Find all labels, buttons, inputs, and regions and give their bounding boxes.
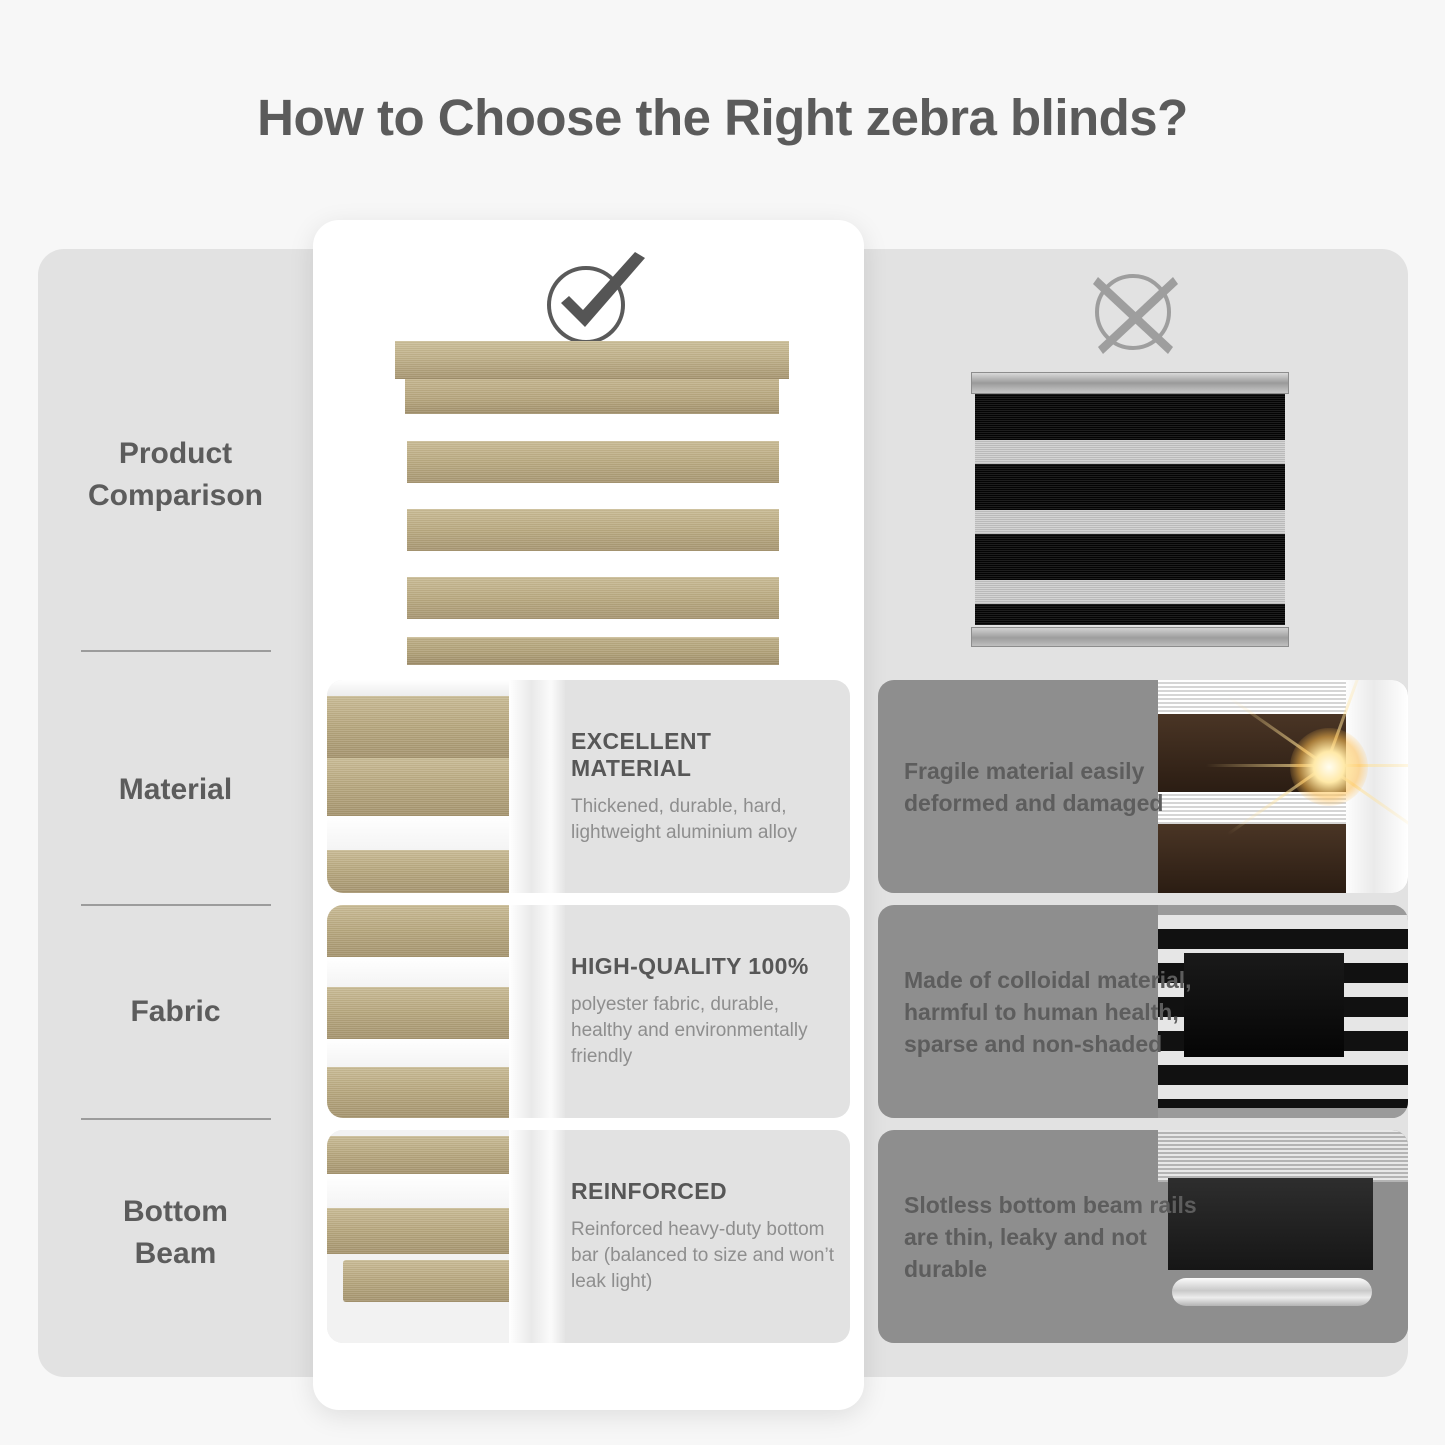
blind-vane <box>327 850 515 893</box>
blind-bottom-rail <box>971 627 1289 647</box>
page-title: How to Choose the Right zebra blinds? <box>0 88 1445 147</box>
blind-vane <box>407 509 779 551</box>
blind-headrail-lip <box>405 379 779 414</box>
bad-feature-text: Slotless bottom beam rails are thin, lea… <box>904 1130 1204 1343</box>
feature-heading: HIGH-QUALITY 100% <box>571 953 836 980</box>
blind-vane <box>1184 953 1344 1057</box>
blind-vane <box>407 577 779 619</box>
tan-blind-bottom-bar-photo <box>327 1130 565 1343</box>
blind-bottom-bar <box>407 637 779 665</box>
row-label-fabric: Fabric <box>38 991 313 1033</box>
row-label-line-2: Comparison <box>38 475 313 517</box>
wood-grain-texture <box>327 758 515 816</box>
tan-blind-window-frame-photo <box>327 680 565 893</box>
cross-circle-icon <box>1078 262 1188 362</box>
feature-text-block: EXCELLENT MATERIAL Thickened, durable, h… <box>571 680 836 893</box>
blind-sheer-gap <box>327 957 515 987</box>
blind-headrail <box>327 696 515 758</box>
blind-vane <box>327 987 515 1039</box>
blind-sheer-gap <box>327 816 515 850</box>
blind-bottom-bar <box>343 1260 533 1302</box>
window-frame-side <box>509 905 565 1118</box>
blind-headrail <box>395 341 789 379</box>
blind-vane <box>327 905 515 957</box>
black-zebra-blind-product-photo <box>965 368 1295 653</box>
bad-feature-text: Fragile material easily deformed and dam… <box>904 680 1204 893</box>
product-photo <box>327 1130 565 1343</box>
bad-feature-material: Fragile material easily deformed and dam… <box>878 680 1408 893</box>
wood-grain-texture <box>395 341 789 378</box>
wood-grain-texture <box>327 905 515 957</box>
blind-vane <box>327 1067 515 1118</box>
bad-feature-fabric: Made of colloidal material, harmful to h… <box>878 905 1408 1118</box>
bad-feature-text: Made of colloidal material, harmful to h… <box>904 905 1204 1118</box>
row-label-line-2: Beam <box>38 1233 313 1275</box>
row-label-column: Product Comparison Material Fabric Botto… <box>38 249 313 1377</box>
good-feature-fabric: HIGH-QUALITY 100% polyester fabric, dura… <box>327 905 850 1118</box>
wood-grain-texture <box>327 1067 515 1118</box>
wood-grain-texture <box>327 987 515 1039</box>
row-label-line-1: Product <box>38 433 313 475</box>
feature-heading: REINFORCED <box>571 1178 836 1205</box>
wood-grain-texture <box>343 1260 533 1302</box>
product-photo <box>327 905 565 1118</box>
row-label-line-1: Bottom <box>38 1191 313 1233</box>
row-label-product-comparison: Product Comparison <box>38 433 313 517</box>
mesh-texture <box>975 394 1285 625</box>
blind-sheer-gap <box>327 1039 515 1067</box>
feature-body: Thickened, durable, hard, lightweight al… <box>571 794 836 846</box>
blind-vane <box>327 1208 515 1254</box>
blind-fabric <box>975 394 1285 625</box>
check-circle-icon <box>533 248 659 348</box>
row-divider <box>81 1118 271 1120</box>
sun-glare-icon <box>1290 728 1368 806</box>
wood-grain-texture <box>327 696 515 758</box>
blind-vane <box>407 441 779 483</box>
feature-heading: EXCELLENT MATERIAL <box>571 728 836 782</box>
good-feature-material: EXCELLENT MATERIAL Thickened, durable, h… <box>327 680 850 893</box>
blind-vane <box>327 758 515 816</box>
tan-blind-fabric-closeup-photo <box>327 905 565 1118</box>
wood-grain-texture <box>407 577 779 619</box>
good-feature-bottom-beam: REINFORCED Reinforced heavy-duty bottom … <box>327 1130 850 1343</box>
window-frame-side <box>509 680 565 893</box>
row-label-material: Material <box>38 769 313 811</box>
wood-grain-texture <box>327 1208 515 1254</box>
feature-text-block: HIGH-QUALITY 100% polyester fabric, dura… <box>571 905 836 1118</box>
window-frame-side <box>509 1130 565 1343</box>
comparison-infographic: How to Choose the Right zebra blinds? Pr… <box>0 0 1445 1445</box>
blind-headrail <box>971 372 1289 394</box>
blind-vane <box>327 1136 515 1174</box>
product-photo <box>327 680 565 893</box>
wood-grain-texture <box>327 1136 515 1174</box>
wood-grain-texture <box>407 638 779 665</box>
tan-zebra-blind-product-photo <box>395 341 789 666</box>
row-divider <box>81 650 271 652</box>
row-label-bottom-beam: Bottom Beam <box>38 1191 313 1275</box>
wood-grain-texture <box>407 509 779 551</box>
wood-grain-texture <box>327 850 515 893</box>
feature-body: Reinforced heavy-duty bottom bar (balanc… <box>571 1217 836 1295</box>
blind-sheer-gap <box>327 1174 515 1208</box>
wood-grain-texture <box>407 441 779 483</box>
feature-text-block: REINFORCED Reinforced heavy-duty bottom … <box>571 1130 836 1343</box>
feature-body: polyester fabric, durable, healthy and e… <box>571 992 836 1070</box>
wood-grain-texture <box>405 379 779 414</box>
row-divider <box>81 904 271 906</box>
bad-feature-bottom-beam: Slotless bottom beam rails are thin, lea… <box>878 1130 1408 1343</box>
